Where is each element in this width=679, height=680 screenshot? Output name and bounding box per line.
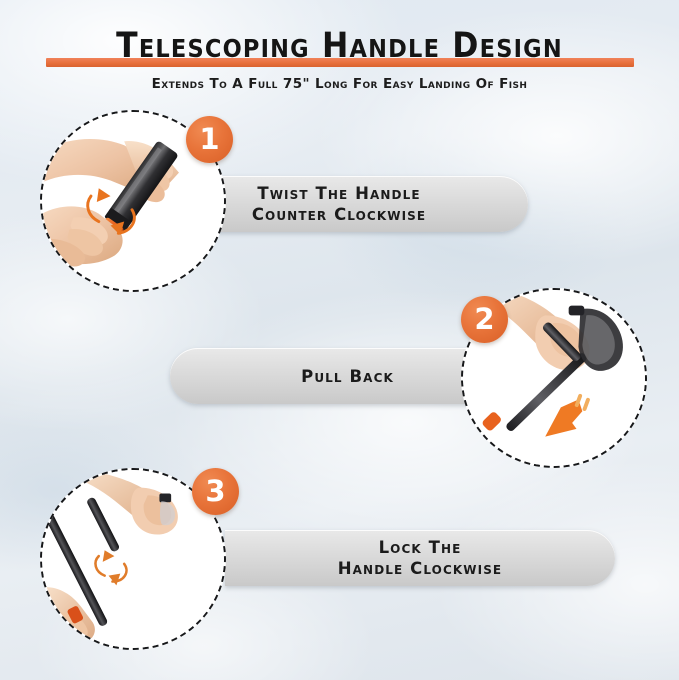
step-3-label-bar: Lock The Handle Clockwise bbox=[225, 530, 615, 586]
step-3-number: 3 bbox=[205, 477, 225, 506]
step-1-number: 1 bbox=[199, 125, 219, 154]
step-2-number: 2 bbox=[474, 305, 494, 334]
step-1-number-badge: 1 bbox=[186, 116, 233, 163]
step-2-number-badge: 2 bbox=[461, 296, 508, 343]
step-2-label-text: Pull Back bbox=[301, 366, 394, 387]
infographic-page: Telescoping Handle Design Extends To A F… bbox=[0, 0, 679, 680]
step-3-number-badge: 3 bbox=[192, 468, 239, 515]
title-underline-bar bbox=[46, 58, 634, 67]
step-1-label-text: Twist The Handle Counter Clockwise bbox=[252, 183, 426, 225]
page-subtitle: Extends To A Full 75" Long For Easy Land… bbox=[0, 76, 679, 92]
step-3-label-text: Lock The Handle Clockwise bbox=[338, 537, 502, 579]
